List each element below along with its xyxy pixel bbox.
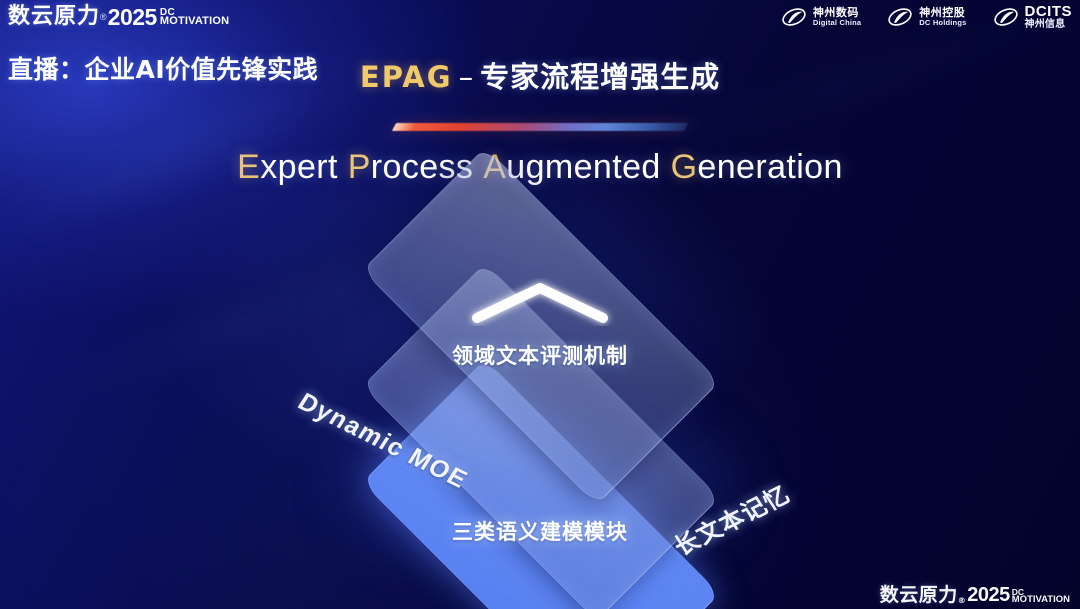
registered-mark-icon: ® <box>100 12 107 22</box>
event-brand-logo: 数云原力®2025DCMOTIVATION <box>8 2 229 32</box>
brand-dc-line2: MOTIVATION <box>160 16 229 26</box>
title-acronym: EPAG <box>360 60 453 94</box>
title-chinese: 专家流程增强生成 <box>480 60 720 94</box>
slide-canvas: 数云原力®2025DCMOTIVATION 直播：企业AI价值先锋实践 神州数码… <box>0 0 1080 609</box>
page-subtitle: Expert Process Augmented Generation <box>0 148 1080 187</box>
watermark-brand-cn: 数云原力 <box>880 586 958 605</box>
watermark-dc-motivation: DCMOTIVATION <box>1012 589 1070 605</box>
gradient-divider <box>392 123 688 131</box>
subtitle-word-augmented: ugmented <box>506 148 660 186</box>
subtitle-initial-p: P <box>348 148 371 186</box>
subtitle-word-expert: xpert <box>260 148 338 186</box>
footer-watermark: 数云原力®2025DCMOTIVATION <box>880 585 1070 605</box>
brand-dc-motivation: DCMOTIVATION <box>160 8 229 26</box>
logo-name-en: DCITS <box>1025 4 1073 20</box>
layered-stack-diagram: 领域文本评测机制 Dynamic MOE 长文本记忆 三类语义建模模块 <box>260 232 820 562</box>
logo-dc-holdings: 神州控股 DC Holdings <box>887 6 966 28</box>
logo-dcits: DCITS 神州信息 <box>993 4 1073 30</box>
watermark-year: 2025 <box>967 585 1010 605</box>
watermark-registered-icon: ® <box>958 597 967 605</box>
corporate-logo-row: 神州数码 Digital China 神州控股 DC Holdings DCIT… <box>781 4 1072 30</box>
page-title: EPAG–专家流程增强生成 <box>0 54 1080 96</box>
swoosh-icon <box>993 6 1019 28</box>
subtitle-initial-e: E <box>237 148 260 186</box>
logo-name-en: Digital China <box>813 19 861 27</box>
logo-digital-china: 神州数码 Digital China <box>781 6 861 28</box>
swoosh-icon <box>781 6 807 28</box>
subtitle-initial-g: G <box>671 148 698 186</box>
title-dash: – <box>459 60 475 94</box>
subtitle-word-generation: eneration <box>697 148 842 186</box>
logo-text: 神州数码 Digital China <box>813 7 861 26</box>
brand-name-cn: 数云原力 <box>8 6 100 28</box>
swoosh-icon <box>887 6 913 28</box>
brand-year: 2025 <box>108 6 157 29</box>
watermark-dc-line2: MOTIVATION <box>1012 596 1070 605</box>
logo-name-en: DC Holdings <box>919 19 966 27</box>
logo-name-cn: 神州信息 <box>1025 20 1073 31</box>
logo-text: DCITS 神州信息 <box>1025 4 1073 30</box>
logo-text: 神州控股 DC Holdings <box>919 7 966 26</box>
